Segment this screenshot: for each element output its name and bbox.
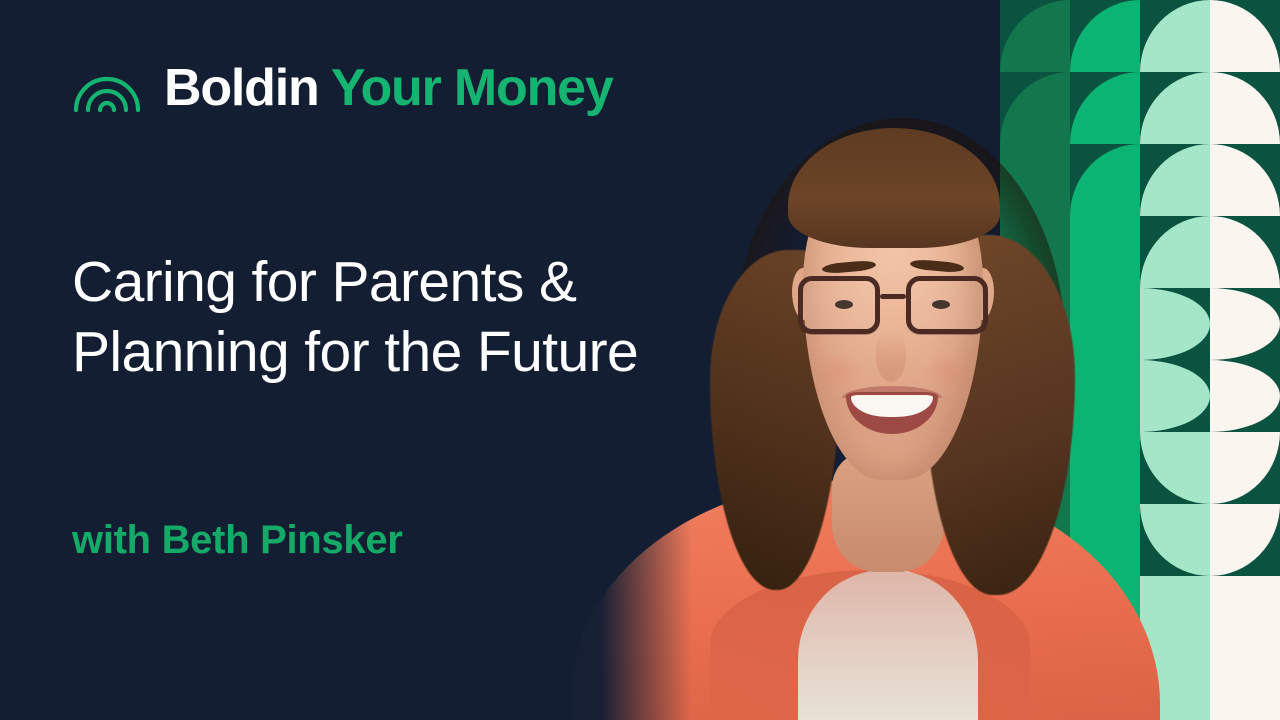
glasses-bridge [880, 294, 906, 299]
speaker-credit: with Beth Pinsker [72, 518, 403, 563]
pattern-tile-shape [1210, 576, 1280, 648]
teeth [851, 395, 933, 417]
eyeglasses-icon [798, 276, 988, 338]
lens-right [906, 276, 988, 334]
boldin-arcs-icon [72, 64, 146, 112]
pattern-tile-shape [1210, 648, 1280, 720]
title-line-1: Caring for Parents & [72, 248, 772, 318]
pattern-tile-shape [1210, 216, 1280, 288]
cheek-left [812, 352, 864, 392]
cheek-right [922, 352, 974, 392]
pattern-tile [1210, 144, 1280, 216]
lens-left [798, 276, 880, 334]
pattern-tile-shape [1210, 72, 1280, 144]
pattern-tile-shape [1210, 288, 1280, 360]
pattern-tile [1210, 360, 1280, 432]
brand-name-secondary: Your Money [331, 59, 613, 117]
brand-name-primary: Boldin [164, 59, 319, 117]
webinar-title-slide: Boldin Your Money Caring for Parents & P… [0, 0, 1280, 720]
brand-wordmark: Boldin Your Money [164, 62, 613, 114]
pattern-tile [1210, 0, 1280, 72]
pattern-tile-shape [1210, 432, 1280, 504]
pattern-tile-shape [1210, 0, 1280, 72]
pattern-tile-shape [1210, 360, 1280, 432]
pattern-tile [1210, 432, 1280, 504]
pattern-tile-shape [1210, 144, 1280, 216]
title-line-2: Planning for the Future [72, 318, 772, 388]
pattern-tile-shape [1210, 504, 1280, 576]
pattern-tile [1210, 576, 1280, 648]
pattern-tile [1210, 72, 1280, 144]
pattern-tile [1210, 288, 1280, 360]
brand-logo: Boldin Your Money [72, 62, 613, 114]
pattern-tile [1210, 504, 1280, 576]
page-title: Caring for Parents & Planning for the Fu… [72, 248, 772, 387]
pattern-tile [1210, 216, 1280, 288]
pattern-tile [1210, 648, 1280, 720]
